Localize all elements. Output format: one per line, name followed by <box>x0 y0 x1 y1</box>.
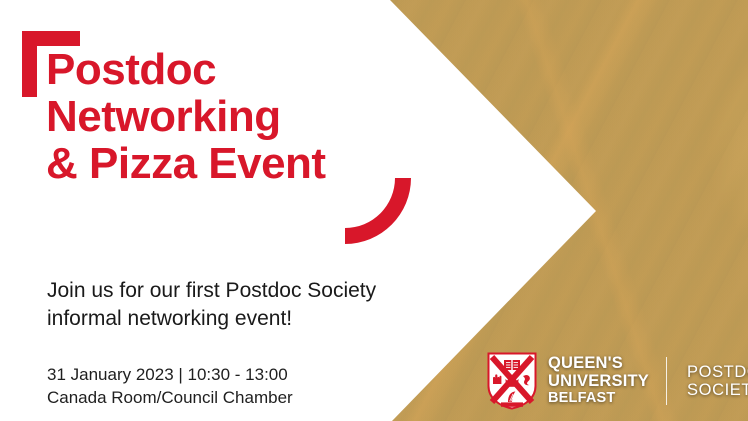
event-details: 31 January 2023 | 10:30 - 13:00 Canada R… <box>47 363 447 410</box>
logo-divider <box>666 357 667 405</box>
society-line-postdoc: POSTDOC <box>687 363 748 381</box>
wordmark-line-belfast: BELFAST <box>548 391 649 407</box>
headline-line-1: Postdoc <box>46 46 386 93</box>
postdoc-society-wordmark: POSTDOC SOCIETY <box>687 363 748 400</box>
event-description: Join us for our first Postdoc Society in… <box>47 277 467 333</box>
queens-university-belfast-crest-icon <box>487 352 537 410</box>
red-arc-swoosh <box>345 178 413 246</box>
logo-lockup: QUEEN'S UNIVERSITY BELFAST POSTDOC SOCIE… <box>487 352 748 410</box>
event-venue: Canada Room/Council Chamber <box>47 386 447 409</box>
wordmark-line-queens: QUEEN'S <box>548 355 649 373</box>
university-wordmark: QUEEN'S UNIVERSITY BELFAST <box>548 355 649 406</box>
headline-line-3: & Pizza Event <box>46 140 386 187</box>
intro-line-2: informal networking event! <box>47 305 467 333</box>
wordmark-line-university: UNIVERSITY <box>548 373 649 391</box>
bracket-vertical-bar <box>22 31 37 97</box>
society-line-society: SOCIETY <box>687 381 748 399</box>
page-title: Postdoc Networking & Pizza Event <box>46 46 386 187</box>
event-poster: Postdoc Networking & Pizza Event Join us… <box>0 0 748 421</box>
intro-line-1: Join us for our first Postdoc Society <box>47 277 467 305</box>
event-datetime: 31 January 2023 | 10:30 - 13:00 <box>47 363 447 386</box>
headline-line-2: Networking <box>46 93 386 140</box>
